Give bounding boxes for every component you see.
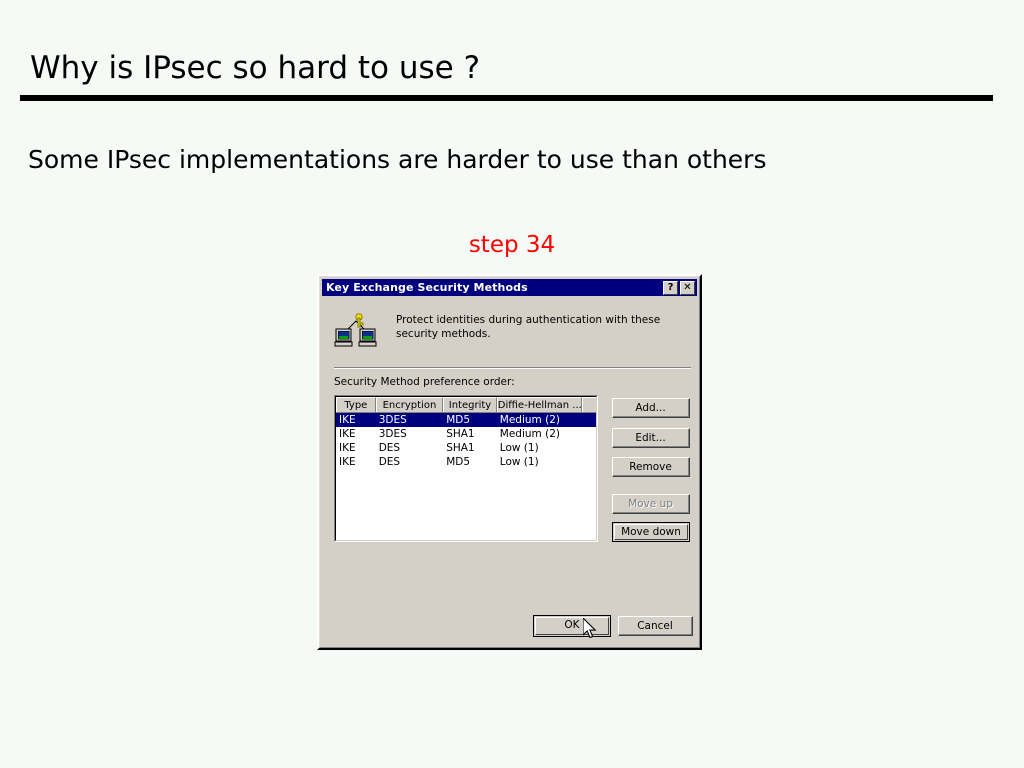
cell-type: IKE [336, 413, 376, 427]
cell-integrity: MD5 [443, 455, 497, 469]
cell-integrity: SHA1 [443, 441, 497, 455]
cell-encryption: 3DES [376, 427, 443, 441]
dialog-description-row: Protect identities during authentication… [334, 313, 689, 349]
column-header-spacer [582, 397, 596, 412]
ok-button-label: OK [535, 617, 609, 635]
listbox-inner: Type Encryption Integrity Diffie-Hellman… [335, 396, 597, 541]
cell-type: IKE [336, 427, 376, 441]
cell-integrity: MD5 [443, 413, 497, 427]
cell-encryption: DES [376, 441, 443, 455]
dialog-description: Protect identities during authentication… [396, 313, 681, 341]
cell-diffie-hellman: Medium (2) [497, 427, 596, 441]
cancel-button-label: Cancel [619, 617, 692, 635]
remove-button-label: Remove [613, 458, 689, 476]
cell-integrity: SHA1 [443, 427, 497, 441]
cancel-button[interactable]: Cancel [618, 616, 693, 636]
key-exchange-security-methods-dialog: Key Exchange Security Methods ? ✕ [317, 274, 702, 650]
column-header-type[interactable]: Type [336, 397, 376, 412]
table-row[interactable]: IKE DES MD5 Low (1) [336, 455, 596, 469]
key-computers-icon [334, 313, 378, 349]
help-icon[interactable]: ? [663, 281, 678, 295]
dialog-separator [334, 367, 691, 369]
column-header-diffie-hellman[interactable]: Diffie-Hellman ... [497, 397, 582, 412]
add-button[interactable]: Add... [612, 398, 690, 418]
cell-encryption: 3DES [376, 413, 443, 427]
column-header-encryption[interactable]: Encryption [376, 397, 443, 412]
move-up-button-label: Move up [613, 495, 689, 513]
security-methods-listbox[interactable]: Type Encryption Integrity Diffie-Hellman… [334, 395, 598, 542]
ok-button[interactable]: OK [533, 615, 611, 637]
edit-button[interactable]: Edit... [612, 428, 690, 448]
titlebar-button-group: ? ✕ [663, 281, 695, 295]
list-caption: Security Method preference order: [334, 376, 515, 388]
cell-diffie-hellman: Low (1) [497, 441, 596, 455]
cell-type: IKE [336, 455, 376, 469]
cell-diffie-hellman: Low (1) [497, 455, 596, 469]
page-title: Why is IPsec so hard to use ? [30, 50, 480, 86]
cell-encryption: DES [376, 455, 443, 469]
move-up-button: Move up [612, 494, 690, 514]
move-down-button[interactable]: Move down [612, 522, 690, 542]
move-down-button-label: Move down [614, 524, 688, 540]
slide-subtitle: Some IPsec implementations are harder to… [28, 145, 767, 174]
table-row[interactable]: IKE 3DES MD5 Medium (2) [336, 413, 596, 427]
list-column-headers: Type Encryption Integrity Diffie-Hellman… [336, 397, 596, 413]
step-label: step 34 [0, 232, 1024, 258]
add-button-label: Add... [613, 399, 689, 417]
title-divider [20, 95, 993, 101]
dialog-title: Key Exchange Security Methods [326, 281, 528, 294]
edit-button-label: Edit... [613, 429, 689, 447]
dialog-titlebar[interactable]: Key Exchange Security Methods ? ✕ [322, 279, 697, 296]
remove-button[interactable]: Remove [612, 457, 690, 477]
table-row[interactable]: IKE 3DES SHA1 Medium (2) [336, 427, 596, 441]
column-header-integrity[interactable]: Integrity [443, 397, 497, 412]
dialog-inner-frame: Key Exchange Security Methods ? ✕ [319, 276, 700, 648]
table-row[interactable]: IKE DES SHA1 Low (1) [336, 441, 596, 455]
cell-type: IKE [336, 441, 376, 455]
cell-diffie-hellman: Medium (2) [497, 413, 596, 427]
close-icon[interactable]: ✕ [680, 281, 695, 295]
